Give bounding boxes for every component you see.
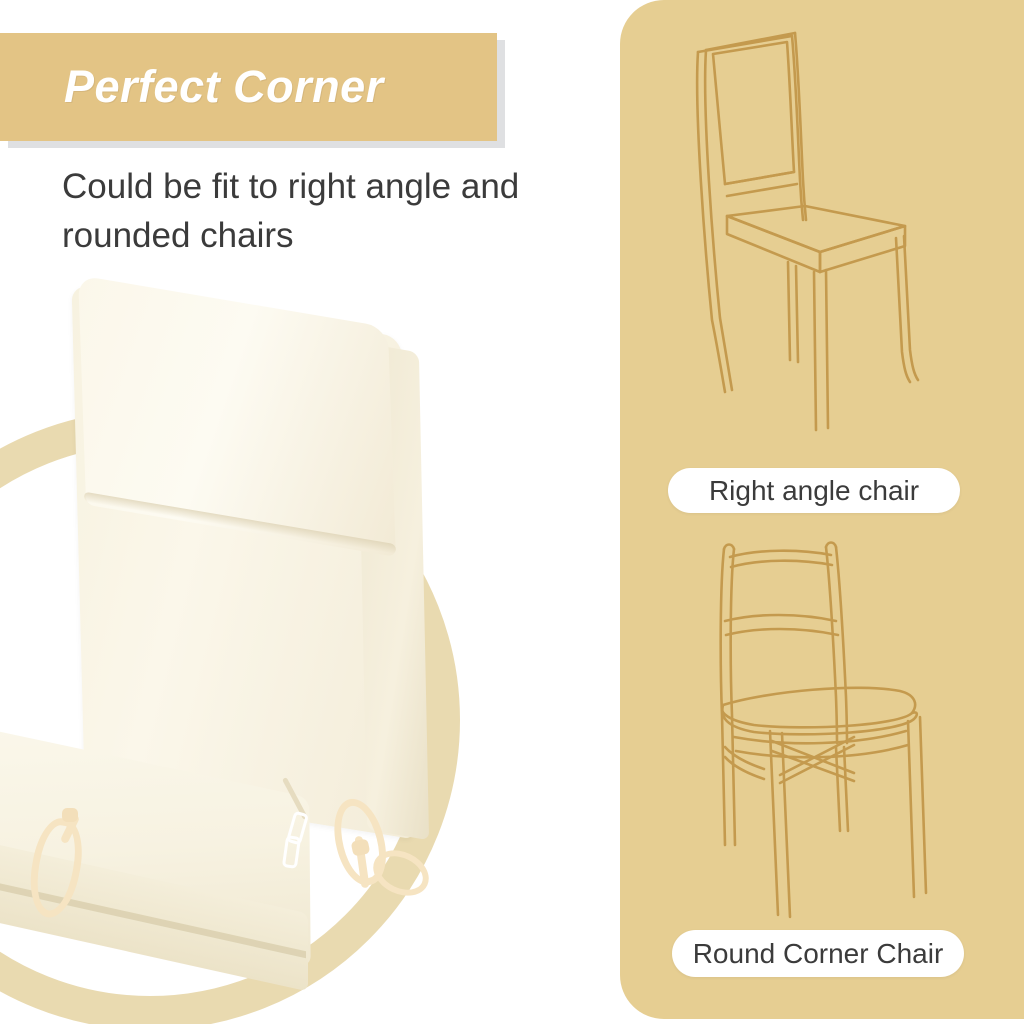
chair-label-text: Right angle chair	[709, 475, 919, 507]
chair-label-pill: Right angle chair	[668, 468, 960, 513]
chair-label-pill: Round Corner Chair	[672, 930, 964, 977]
page-title: Perfect Corner	[64, 33, 384, 141]
round-corner-chair-icon	[668, 525, 998, 925]
chair-examples-panel: Right angle chair	[620, 0, 1024, 1019]
title-banner: Perfect Corner	[0, 33, 497, 141]
cushion-tie-left-knot	[62, 808, 78, 822]
chair-label-text: Round Corner Chair	[693, 938, 944, 970]
page-subtitle: Could be fit to right angle and rounded …	[62, 162, 602, 260]
right-angle-chair-icon	[680, 20, 980, 450]
infographic-canvas: Perfect Corner Could be fit to right ang…	[0, 0, 1024, 1024]
cushion-product-image	[0, 300, 470, 940]
left-content-column: Perfect Corner Could be fit to right ang…	[0, 0, 620, 1024]
